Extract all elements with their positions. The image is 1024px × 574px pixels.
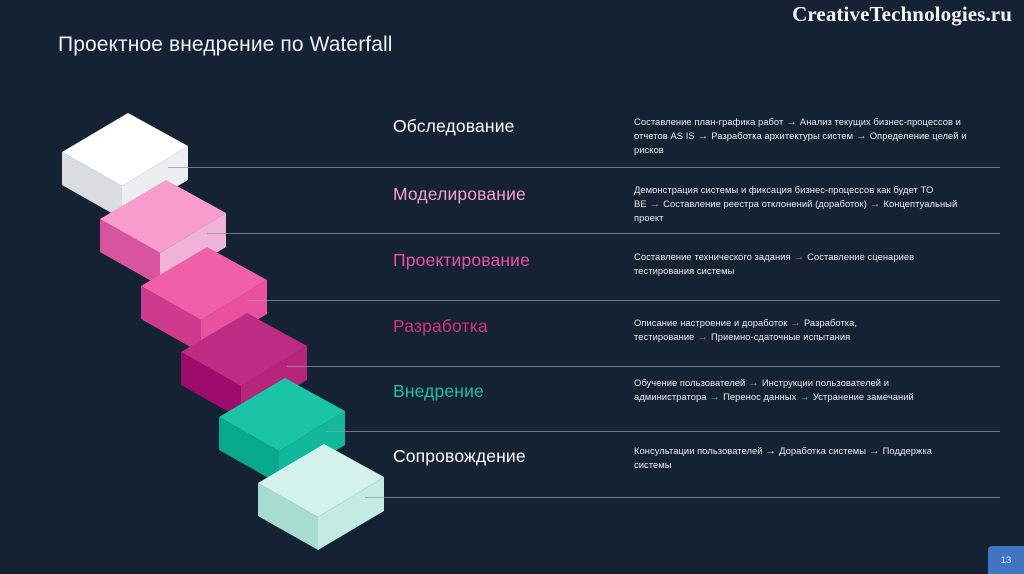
- desc-seg: Составление реестра отклонений (доработо…: [663, 198, 867, 209]
- desc-seg: Составление план-графика работ: [634, 116, 783, 127]
- arrow-icon: →: [695, 130, 712, 142]
- desc-seg: Описание настроение и доработок: [634, 317, 787, 328]
- arrow-icon: →: [796, 391, 813, 403]
- arrow-icon: →: [647, 198, 664, 210]
- desc-seg: Доработка системы: [779, 445, 866, 456]
- arrow-icon: →: [694, 331, 711, 343]
- stage-desc-obsledovanie: Составление план-графика работ→Анализ те…: [634, 115, 972, 158]
- arrow-icon: →: [763, 445, 780, 457]
- stage-label-proektirovanie[interactable]: Проектирование: [393, 250, 530, 271]
- stage-label-modelirovanie[interactable]: Моделирование: [393, 184, 526, 205]
- desc-seg: Консультации пользователей: [634, 445, 763, 456]
- desc-seg: Устранение замечаний: [813, 391, 914, 402]
- arrow-icon: →: [745, 377, 762, 389]
- stage-desc-modelirovanie: Демонстрация системы и фиксация бизнес-п…: [634, 183, 972, 226]
- arrow-icon: →: [867, 198, 884, 210]
- divider-2: [207, 233, 1000, 234]
- desc-seg: Приемно-сдаточные испытания: [711, 331, 850, 342]
- desc-seg: Составление технического задания: [634, 251, 791, 262]
- divider-5: [326, 431, 1000, 432]
- desc-seg: Перенос данных: [723, 391, 796, 402]
- arrow-icon: →: [783, 116, 800, 128]
- desc-seg: Разработка архитектуры систем: [711, 130, 853, 141]
- arrow-icon: →: [853, 130, 870, 142]
- slide-root: CreativeTechnologies.ru Проектное внедре…: [0, 0, 1024, 574]
- desc-seg: Обучение пользователей: [634, 377, 745, 388]
- stage-desc-razrabotka: Описание настроение и доработок→Разработ…: [634, 316, 972, 344]
- arrow-icon: →: [707, 391, 724, 403]
- stage-desc-vnedrenie: Обучение пользователей→Инструкции пользо…: [634, 376, 972, 404]
- stage-label-razrabotka[interactable]: Разработка: [393, 316, 488, 337]
- stage-label-soprovozhdenie[interactable]: Сопровождение: [393, 446, 526, 467]
- arrow-icon: →: [791, 251, 808, 263]
- page-number-value: 13: [1001, 555, 1012, 566]
- arrow-icon: →: [866, 445, 883, 457]
- divider-1: [168, 167, 1000, 168]
- stage-desc-proektirovanie: Составление технического задания→Составл…: [634, 250, 972, 278]
- stage-label-obsledovanie[interactable]: Обследование: [393, 116, 515, 137]
- page-number-badge: 13: [988, 546, 1024, 574]
- stage-label-vnedrenie[interactable]: Внедрение: [393, 381, 484, 402]
- divider-4: [287, 366, 1000, 367]
- divider-6: [365, 497, 1000, 498]
- divider-3: [247, 300, 1000, 301]
- stage-desc-soprovozhdenie: Консультации пользователей→Доработка сис…: [634, 444, 972, 472]
- arrow-icon: →: [787, 317, 804, 329]
- row-dividers: [0, 0, 1024, 574]
